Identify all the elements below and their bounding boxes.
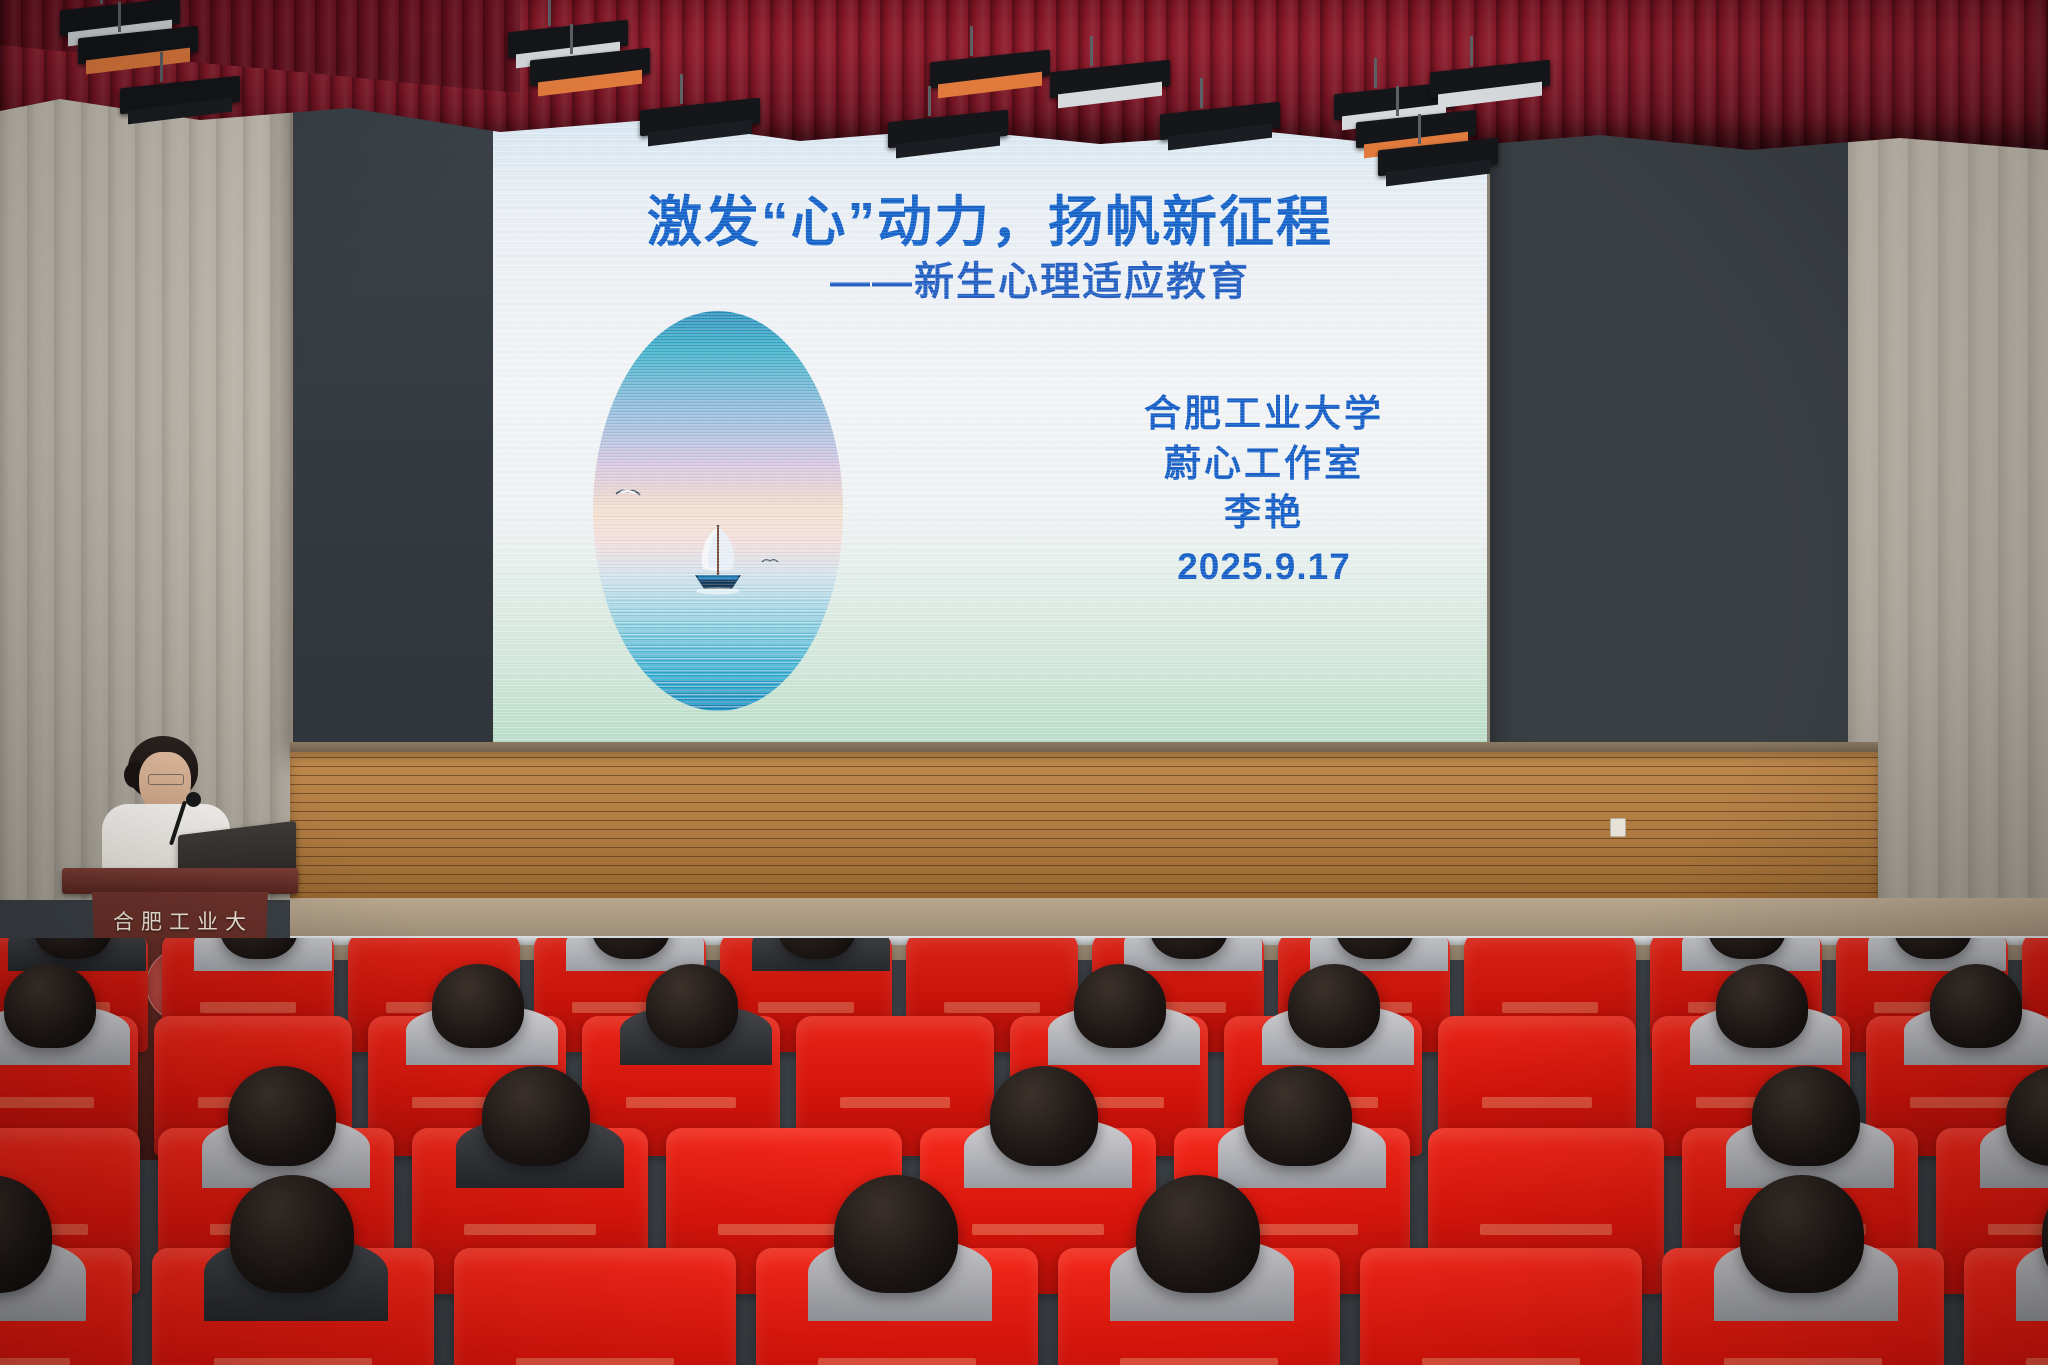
slide-date: 2025.9.17 (1099, 542, 1429, 592)
seat-number-tag (758, 1002, 854, 1013)
seat-number-tag (0, 1097, 94, 1108)
seat-number-tag (718, 1224, 850, 1235)
slide-info-line-3: 李艳 (1099, 488, 1429, 538)
glasses-icon (148, 774, 184, 785)
light-mount-arm (1090, 36, 1093, 66)
audience-member-head (1288, 964, 1380, 1048)
audience-member-head (1716, 964, 1808, 1048)
slide-info-line-2: 蔚心工作室 (1099, 439, 1429, 489)
audience-member-head (1740, 1175, 1864, 1293)
seat-number-tag (0, 1358, 70, 1365)
audience-member-head (834, 1175, 958, 1293)
seat-number-tag (1724, 1358, 1882, 1365)
light-mount-arm (928, 86, 931, 116)
slide-info-block: 合肥工业大学 蔚心工作室 李艳 2025.9.17 (1099, 389, 1429, 591)
seat-number-tag (516, 1358, 674, 1365)
audience-member-head (230, 1175, 354, 1293)
slide-info-line-1: 合肥工业大学 (1099, 389, 1429, 439)
right-wall-curtain (1848, 130, 2048, 960)
audience-member-head (1136, 1175, 1260, 1293)
audience-member-head (1074, 964, 1166, 1048)
seat-number-tag (1422, 1358, 1580, 1365)
audience-seat (454, 1248, 736, 1365)
audience-member-head (1752, 1066, 1860, 1166)
seat-number-tag (818, 1358, 976, 1365)
podium-top-surface (62, 868, 298, 894)
led-screen: HEFEI UNIVERSITY 激发“心”动力，扬帆新征程 ——新生心理适应教… (290, 72, 1490, 752)
sailboat-artwork (593, 311, 843, 711)
light-mount-arm (1200, 78, 1203, 108)
seat-number-tag (840, 1097, 951, 1108)
seat-number-tag (626, 1097, 737, 1108)
light-mount-arm (570, 24, 573, 54)
audience-seating (0, 938, 2048, 1365)
audience-member-head (1244, 1066, 1352, 1166)
light-mount-arm (1396, 86, 1399, 116)
seat-number-tag (1988, 1224, 2048, 1235)
seat-number-tag (464, 1224, 596, 1235)
slide-title: 激发“心”动力，扬帆新征程 (493, 177, 1487, 257)
audience-member-head (1930, 964, 2022, 1048)
seat-number-tag (1120, 1358, 1278, 1365)
seat-number-tag (1502, 1002, 1598, 1013)
sailboat-icon (687, 519, 749, 595)
auditorium-photo: HEFEI UNIVERSITY 激发“心”动力，扬帆新征程 ——新生心理适应教… (0, 0, 2048, 1365)
seat-number-tag (1482, 1097, 1593, 1108)
audience-member-head (432, 964, 524, 1048)
seat-number-tag (2026, 1358, 2048, 1365)
audience-member-head (4, 964, 96, 1048)
light-mount-arm (680, 74, 683, 104)
microphone-icon (186, 792, 201, 807)
audience-seat (1360, 1248, 1642, 1365)
light-mount-arm (1470, 36, 1473, 66)
presentation-slide: HEFEI UNIVERSITY 激发“心”动力，扬帆新征程 ——新生心理适应教… (493, 89, 1487, 749)
seat-number-tag (200, 1002, 296, 1013)
seat-number-tag (972, 1224, 1104, 1235)
audience-member-head (646, 964, 738, 1048)
light-mount-arm (118, 2, 121, 32)
light-mount-arm (548, 0, 551, 26)
seat-number-tag (1910, 1097, 2021, 1108)
light-mount-arm (100, 0, 103, 4)
seat-number-tag (214, 1358, 372, 1365)
audience-member-head (228, 1066, 336, 1166)
sea-reflection (593, 503, 843, 711)
seagull-icon (615, 487, 641, 497)
light-mount-arm (160, 52, 163, 82)
seat-number-tag (1480, 1224, 1612, 1235)
wall-outlet (1610, 818, 1626, 837)
light-mount-arm (1374, 58, 1377, 88)
light-mount-arm (1418, 114, 1421, 144)
audience-member-head (482, 1066, 590, 1166)
light-mount-arm (970, 26, 973, 56)
seagull-icon (761, 557, 779, 564)
wood-slat-wall (290, 752, 1878, 902)
slide-subtitle: ——新生心理适应教育 (493, 249, 1487, 307)
seat-number-tag (944, 1002, 1040, 1013)
audience-member-head (990, 1066, 1098, 1166)
